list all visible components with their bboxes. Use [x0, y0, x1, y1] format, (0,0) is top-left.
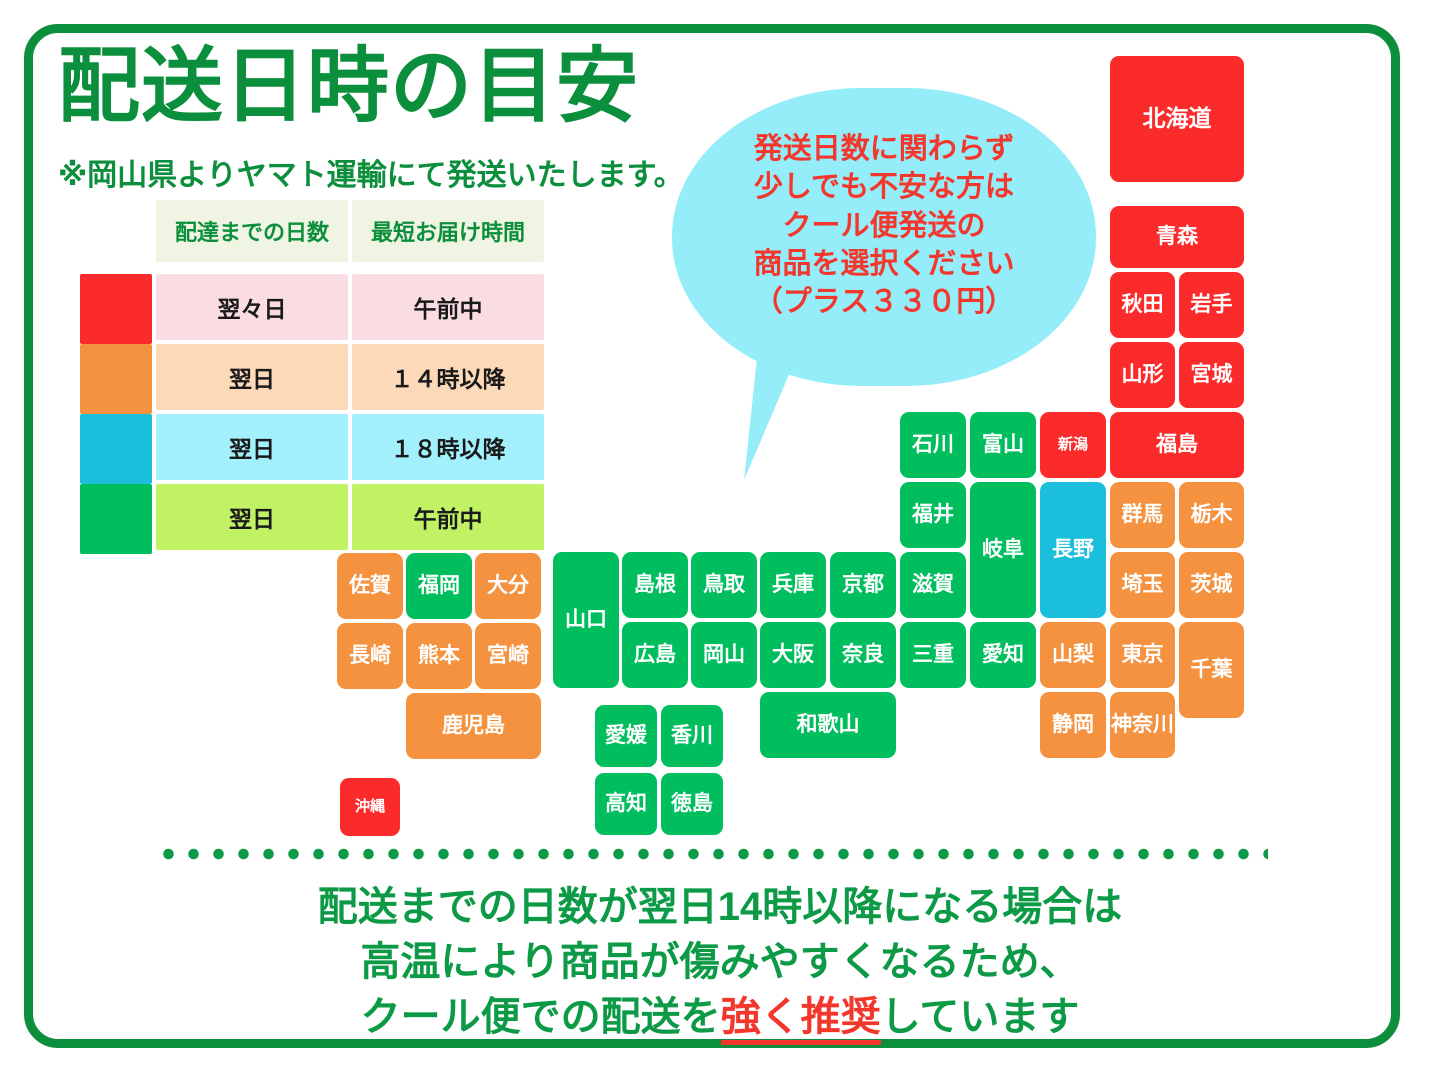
prefecture-tile[interactable]: 新潟 — [1040, 412, 1106, 478]
prefecture-tile[interactable]: 愛媛 — [595, 705, 657, 767]
prefecture-tile[interactable]: 兵庫 — [760, 552, 826, 618]
prefecture-tile[interactable]: 沖縄 — [340, 778, 400, 836]
prefecture-tile[interactable]: 山梨 — [1040, 622, 1106, 688]
prefecture-tile[interactable]: 大阪 — [760, 622, 826, 688]
prefecture-tile[interactable]: 岐阜 — [970, 482, 1036, 618]
prefecture-tile[interactable]: 熊本 — [406, 623, 472, 689]
prefecture-tile[interactable]: 群馬 — [1110, 482, 1175, 548]
prefecture-tile[interactable]: 福井 — [900, 482, 966, 548]
prefecture-tile[interactable]: 福岡 — [406, 553, 472, 619]
prefecture-tile[interactable]: 大分 — [475, 553, 541, 619]
prefecture-tile[interactable]: 埼玉 — [1110, 552, 1175, 618]
footer-line-2: 高温により商品が傷みやすくなるため、 — [0, 935, 1440, 990]
prefecture-tile[interactable]: 広島 — [622, 622, 688, 688]
prefecture-tile[interactable]: 和歌山 — [760, 692, 896, 758]
prefecture-tile[interactable]: 滋賀 — [900, 552, 966, 618]
prefecture-tile[interactable]: 香川 — [661, 705, 723, 767]
prefecture-tile[interactable]: 鳥取 — [691, 552, 757, 618]
infographic-root: 配送日時の目安 ※岡山県よりヤマト運輸にて発送いたします。 配達までの日数 最短… — [0, 0, 1440, 1080]
prefecture-tile[interactable]: 宮城 — [1179, 342, 1244, 408]
prefecture-tile[interactable]: 石川 — [900, 412, 966, 478]
prefecture-tile[interactable]: 福島 — [1110, 412, 1244, 478]
prefecture-tile[interactable]: 長崎 — [337, 623, 403, 689]
prefecture-tile[interactable]: 青森 — [1110, 206, 1244, 268]
prefecture-tile[interactable]: 秋田 — [1110, 272, 1175, 338]
prefecture-tile[interactable]: 山口 — [553, 552, 619, 688]
prefecture-tile[interactable]: 京都 — [830, 552, 896, 618]
prefecture-tile[interactable]: 富山 — [970, 412, 1036, 478]
prefecture-tile[interactable]: 三重 — [900, 622, 966, 688]
prefecture-tile[interactable]: 静岡 — [1040, 692, 1106, 758]
footer-message: 配送までの日数が翌日14時以降になる場合は 高温により商品が傷みやすくなるため、… — [0, 880, 1440, 1046]
footer-highlight: 強く推奨 — [721, 995, 881, 1045]
footer-line-1: 配送までの日数が翌日14時以降になる場合は — [0, 880, 1440, 935]
prefecture-tile[interactable]: 愛知 — [970, 622, 1036, 688]
prefecture-tile[interactable]: 神奈川 — [1110, 692, 1175, 758]
footer-line-3-post: しています — [881, 995, 1080, 1039]
prefecture-tile[interactable]: 千葉 — [1179, 622, 1244, 718]
prefecture-tile[interactable]: 宮崎 — [475, 623, 541, 689]
prefecture-tile[interactable]: 栃木 — [1179, 482, 1244, 548]
prefecture-tile[interactable]: 鹿児島 — [406, 693, 541, 759]
prefecture-tile[interactable]: 茨城 — [1179, 552, 1244, 618]
prefecture-tile[interactable]: 東京 — [1110, 622, 1175, 688]
footer-line-3: クール便での配送を強く推奨しています — [0, 990, 1440, 1045]
prefecture-tile[interactable]: 島根 — [622, 552, 688, 618]
prefecture-tile[interactable]: 奈良 — [830, 622, 896, 688]
prefecture-tile[interactable]: 山形 — [1110, 342, 1175, 408]
prefecture-tile[interactable]: 高知 — [595, 773, 657, 835]
dotted-divider — [156, 848, 1268, 860]
prefecture-tile[interactable]: 長野 — [1040, 482, 1106, 618]
prefecture-tile[interactable]: 北海道 — [1110, 56, 1244, 182]
prefecture-tile[interactable]: 岩手 — [1179, 272, 1244, 338]
prefecture-tile[interactable]: 徳島 — [661, 773, 723, 835]
prefecture-tile[interactable]: 佐賀 — [337, 553, 403, 619]
prefecture-tile[interactable]: 岡山 — [691, 622, 757, 688]
footer-line-3-pre: クール便での配送を — [361, 995, 721, 1039]
